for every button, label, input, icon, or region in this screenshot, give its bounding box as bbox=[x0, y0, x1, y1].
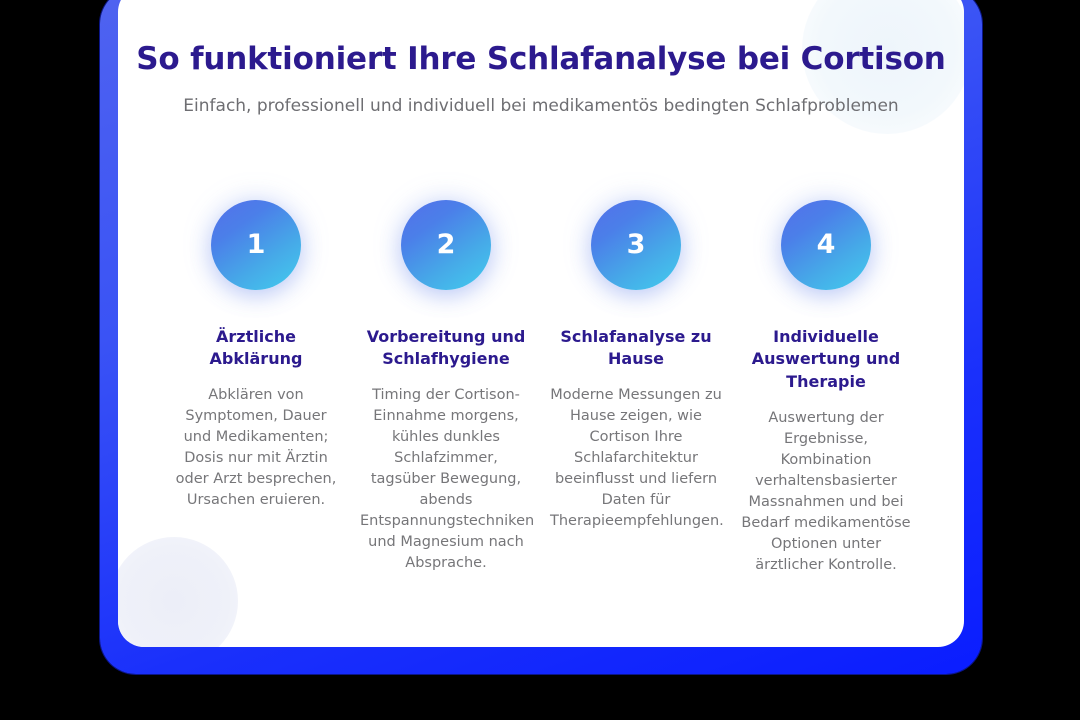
step-number-badge-4: 4 bbox=[781, 200, 871, 290]
step-number-badge-1: 1 bbox=[211, 200, 301, 290]
page-root: So funktioniert Ihre Schlafanalyse bei C… bbox=[0, 0, 1080, 720]
step-description-1: Abklären von Symptomen, Dauer und Medika… bbox=[170, 385, 342, 511]
step-title-3: Schlafanalyse zu Hause bbox=[548, 326, 724, 372]
step-item-1: 1 Ärztliche Abklärung Abklären von Sympt… bbox=[161, 200, 351, 512]
step-item-3: 3 Schlafanalyse zu Hause Moderne Messung… bbox=[541, 200, 731, 533]
steps-row: 1 Ärztliche Abklärung Abklären von Sympt… bbox=[118, 200, 964, 577]
step-title-4: Individuelle Auswertung und Therapie bbox=[738, 326, 914, 395]
step-number-badge-3: 3 bbox=[591, 200, 681, 290]
step-item-2: 2 Vorbereitung und Schlafhygiene Timing … bbox=[351, 200, 541, 575]
step-description-2: Timing der Cortison-Einnahme morgens, kü… bbox=[360, 385, 532, 574]
step-description-4: Auswertung der Ergebnisse, Kombination v… bbox=[740, 408, 912, 576]
step-number-badge-2: 2 bbox=[401, 200, 491, 290]
step-description-3: Moderne Messungen zu Hause zeigen, wie C… bbox=[550, 385, 722, 532]
page-title: So funktioniert Ihre Schlafanalyse bei C… bbox=[118, 41, 964, 78]
card-content: So funktioniert Ihre Schlafanalyse bei C… bbox=[118, 0, 964, 647]
page-subtitle: Einfach, professionell und individuell b… bbox=[118, 95, 964, 118]
step-title-2: Vorbereitung und Schlafhygiene bbox=[358, 326, 534, 372]
step-item-4: 4 Individuelle Auswertung und Therapie A… bbox=[731, 200, 921, 577]
content-card: So funktioniert Ihre Schlafanalyse bei C… bbox=[118, 0, 964, 647]
step-title-1: Ärztliche Abklärung bbox=[168, 326, 344, 372]
